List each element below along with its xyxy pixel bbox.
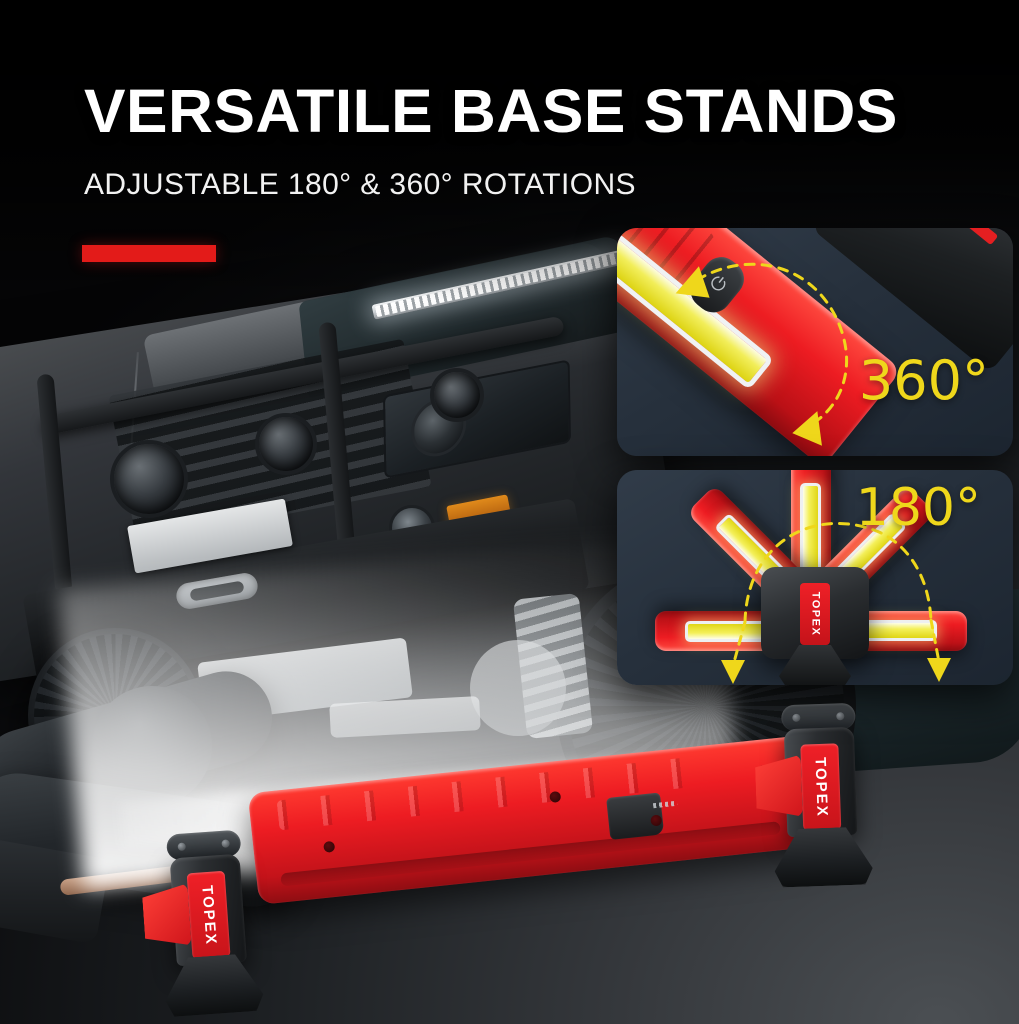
- spotlight-one: [110, 440, 188, 518]
- arrow-head: [927, 658, 951, 682]
- inset-panel-360: 360°: [617, 228, 1013, 456]
- brand-text: TOPEX: [809, 592, 821, 637]
- page-subtitle: ADJUSTABLE 180° & 360° ROTATIONS: [84, 168, 636, 202]
- brand-text: TOPEX: [198, 884, 219, 946]
- degree-label-360: 360°: [859, 354, 989, 408]
- stand-red-cap: [141, 883, 191, 948]
- product-work-light: TOPEX TOPEX: [140, 744, 880, 1004]
- spotlight-two: [255, 413, 317, 475]
- spotlight-three: [430, 368, 484, 422]
- stand-foot: [773, 826, 873, 887]
- brand-text: TOPEX: [811, 756, 830, 817]
- brand-badge: TOPEX: [800, 583, 830, 645]
- light-bar-housing: [248, 735, 817, 905]
- brand-badge: TOPEX: [800, 743, 841, 830]
- base-stand-left[interactable]: TOPEX: [140, 824, 279, 1018]
- red-accent-bar: [82, 245, 216, 262]
- arrow-head: [721, 660, 745, 684]
- page-title: VERSATILE BASE STANDS: [84, 76, 898, 146]
- differential-housing: [470, 640, 566, 736]
- brand-badge: TOPEX: [187, 871, 231, 959]
- stand-red-cap: [755, 755, 803, 819]
- inset-panel-180: TOPEX 180°: [617, 470, 1013, 685]
- base-stand-right[interactable]: TOPEX: [755, 698, 887, 888]
- degree-label-180: 180°: [856, 482, 981, 534]
- product-marketing-banner: VERSATILE BASE STANDS ADJUSTABLE 180° & …: [0, 0, 1019, 1024]
- undercarriage-bracket: [329, 696, 481, 738]
